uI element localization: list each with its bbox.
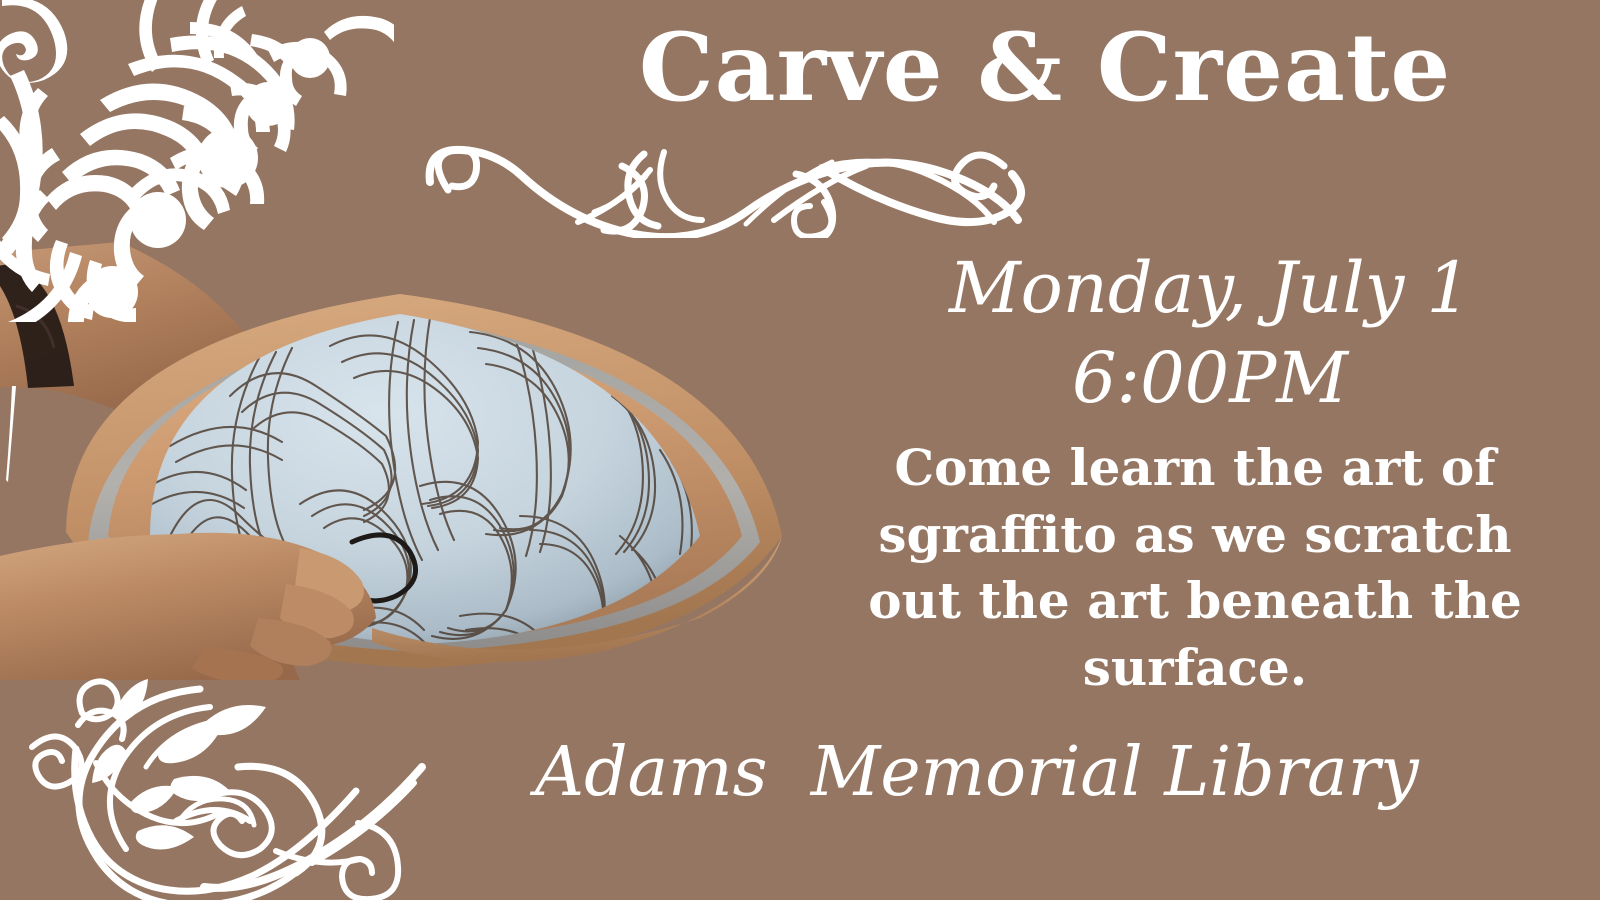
event-datetime: Monday, July 1 6:00PM [870,244,1550,423]
floral-swirl-svg [18,655,438,900]
corner-flourish-bottom-left-icon [18,655,438,900]
event-time: 6:00PM [870,334,1550,424]
swirl-divider-svg [408,138,1033,238]
venue-name: Adams Memorial Library [535,736,1335,811]
page-title: Carve & Create [540,16,1550,121]
pottery-photo-illustration [0,236,880,680]
event-date: Monday, July 1 [870,244,1550,334]
divider-flourish-icon [408,138,1033,238]
pottery-photo [0,236,880,680]
event-poster: Carve & Create Monday, July 1 6:00PM Com… [0,0,1600,900]
event-description: Come learn the art of sgraffito as we sc… [845,435,1545,701]
